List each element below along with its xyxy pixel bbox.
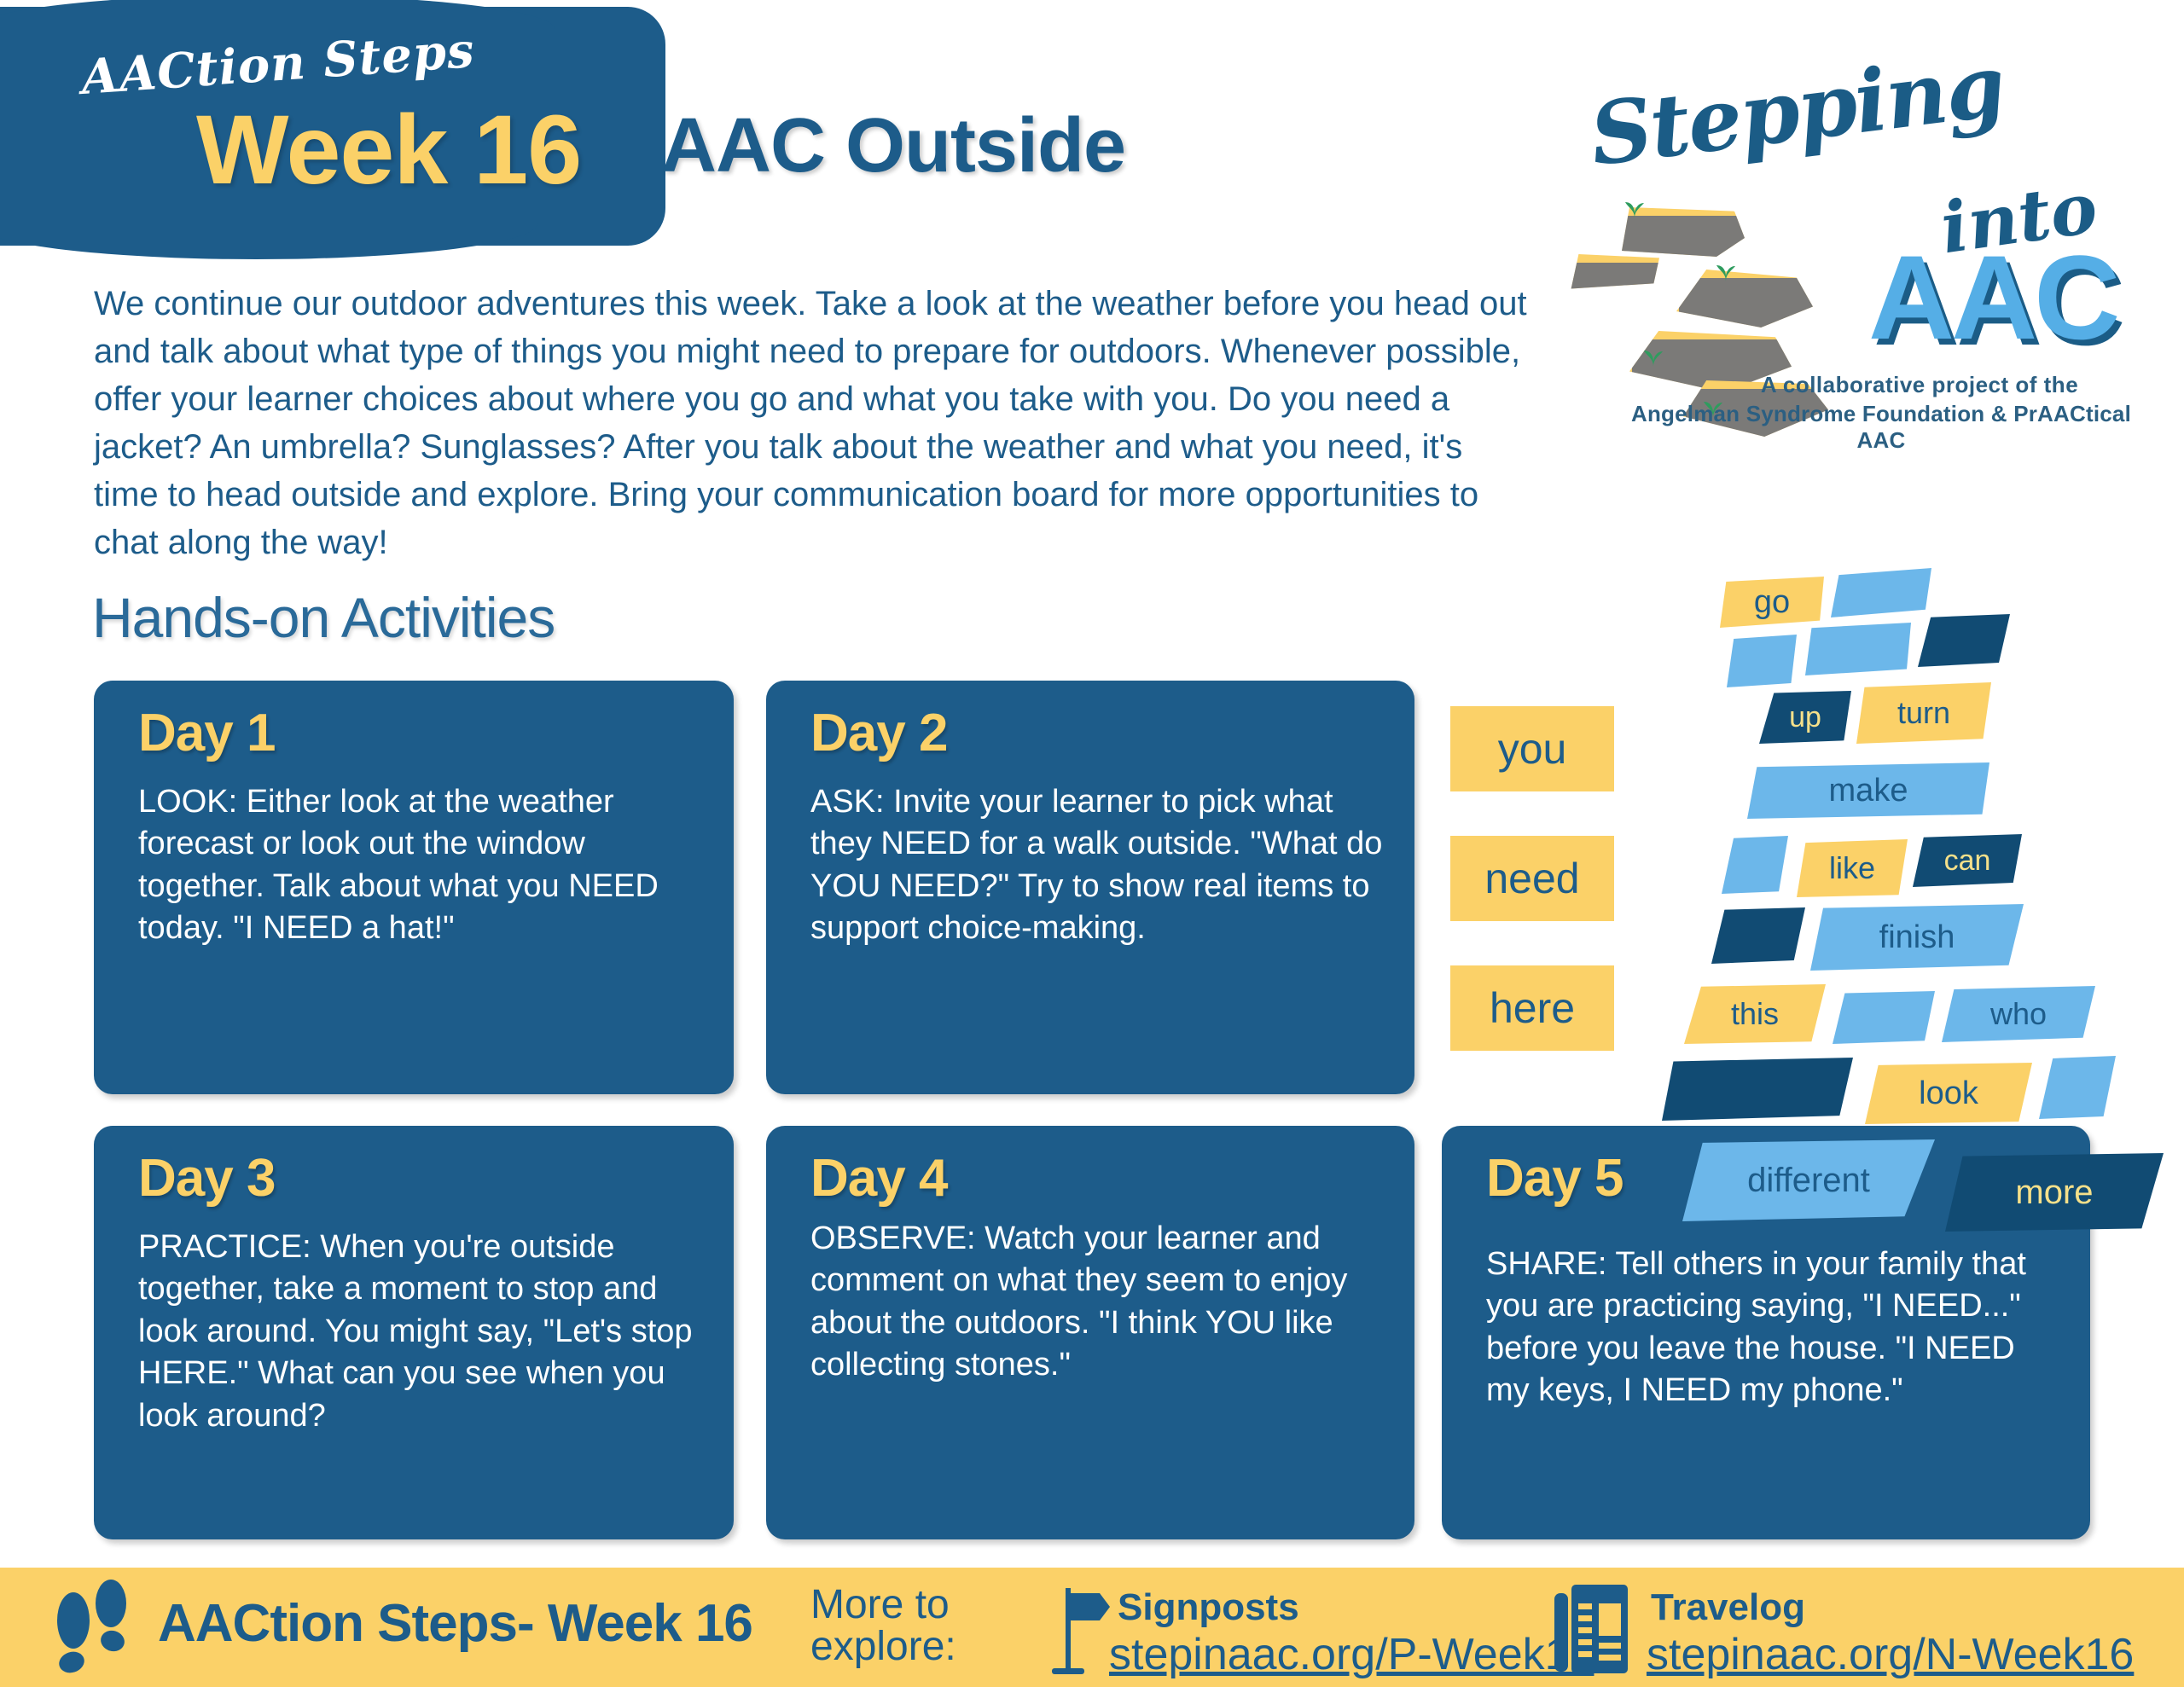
day-card-3: Day 3 PRACTICE: When you're outside toge… [94,1126,734,1539]
path-word-tile[interactable]: up [1759,691,1851,744]
day-card-title: Day 5 [1486,1148,1623,1209]
path-word-tile[interactable]: turn [1856,682,1991,744]
logo-acronym: AAC [1868,229,2117,367]
page-title: AAC Outside [661,102,1125,190]
more-to-explore-label: More to explore: [810,1585,956,1668]
path-spacer-tile[interactable] [1831,568,1931,617]
path-word-tile[interactable]: who [1942,986,2095,1042]
travelog-notebook-icon [1553,1581,1631,1677]
path-spacer-tile[interactable] [1711,907,1805,964]
logo-tagline-line1: A collaborative project of the [1681,372,2158,398]
logo-script-stepping: Stepping [1585,35,2009,185]
day-card-body: SHARE: Tell others in your family that y… [1486,1244,2061,1412]
day-card-4: Day 4 OBSERVE: Watch your learner and co… [766,1126,1414,1539]
path-spacer-tile[interactable] [1805,623,1911,675]
stepping-stone-icon [1676,270,1813,328]
path-word-tile[interactable]: make [1747,762,1989,819]
path-spacer-tile[interactable] [1722,836,1788,894]
path-spacer-tile[interactable] [1833,991,1935,1044]
footer-bar: AACtion Steps- Week 16 More to explore: … [0,1568,2184,1687]
path-word-tile[interactable]: can [1913,834,2022,887]
day-card-title: Day 4 [810,1148,947,1209]
stepping-into-aac-logo: Stepping into AAC A collaborative projec… [1583,49,2146,536]
path-spacer-tile[interactable] [1727,635,1797,687]
signposts-link[interactable]: stepinaac.org/P-Week16 [1109,1629,1594,1680]
day-card-1: Day 1 LOOK: Either look at the weather f… [94,681,734,1094]
path-word-tile[interactable]: look [1865,1063,2032,1124]
intro-paragraph: We continue our outdoor adventures this … [94,280,1536,566]
travelog-label: Travelog [1651,1586,1805,1629]
day-card-2: Day 2 ASK: Invite your learner to pick w… [766,681,1414,1094]
core-word-tile[interactable]: here [1450,965,1614,1051]
sprout-icon [1715,263,1737,281]
page-section-title: Hands-on Activities [92,585,555,650]
path-spacer-tile[interactable] [1918,614,2010,667]
logo-tagline-line2: Angelman Syndrome Foundation & PrAACtica… [1608,401,2154,454]
core-word-tile[interactable]: you [1450,706,1614,791]
path-word-tile[interactable]: different [1682,1139,1935,1221]
core-word-column: you need here [1450,706,1614,1095]
signpost-icon [1028,1581,1113,1677]
path-spacer-tile[interactable] [1662,1058,1853,1121]
core-word-tile[interactable]: need [1450,836,1614,921]
path-word-tile[interactable]: like [1797,839,1908,897]
footprints-icon [49,1580,143,1675]
aac-word-path: go up turn make like can finish this who… [1638,573,2184,1085]
path-word-tile[interactable]: finish [1810,904,2024,971]
sprout-icon [1623,200,1646,218]
travelog-link[interactable]: stepinaac.org/N-Week16 [1647,1629,2134,1680]
day-card-title: Day 3 [138,1148,275,1209]
day-card-title: Day 2 [810,703,947,763]
path-word-tile[interactable]: more [1945,1153,2164,1232]
day-card-body: OBSERVE: Watch your learner and comment … [810,1218,1385,1387]
signposts-label: Signposts [1118,1586,1299,1629]
stepping-stone-icon [1565,254,1659,292]
path-word-tile[interactable]: this [1684,984,1826,1044]
sprout-icon [1642,348,1664,367]
day-card-body: ASK: Invite your learner to pick what th… [810,781,1385,950]
path-word-tile[interactable]: go [1720,577,1824,628]
footer-brand-label: AACtion Steps- Week 16 [158,1593,752,1654]
day-card-body: LOOK: Either look at the weather forecas… [138,781,705,950]
day-card-body: PRACTICE: When you're outside together, … [138,1226,705,1437]
path-spacer-tile[interactable] [2039,1056,2116,1119]
day-card-title: Day 1 [138,703,275,763]
week-label: Week 16 [196,94,581,206]
